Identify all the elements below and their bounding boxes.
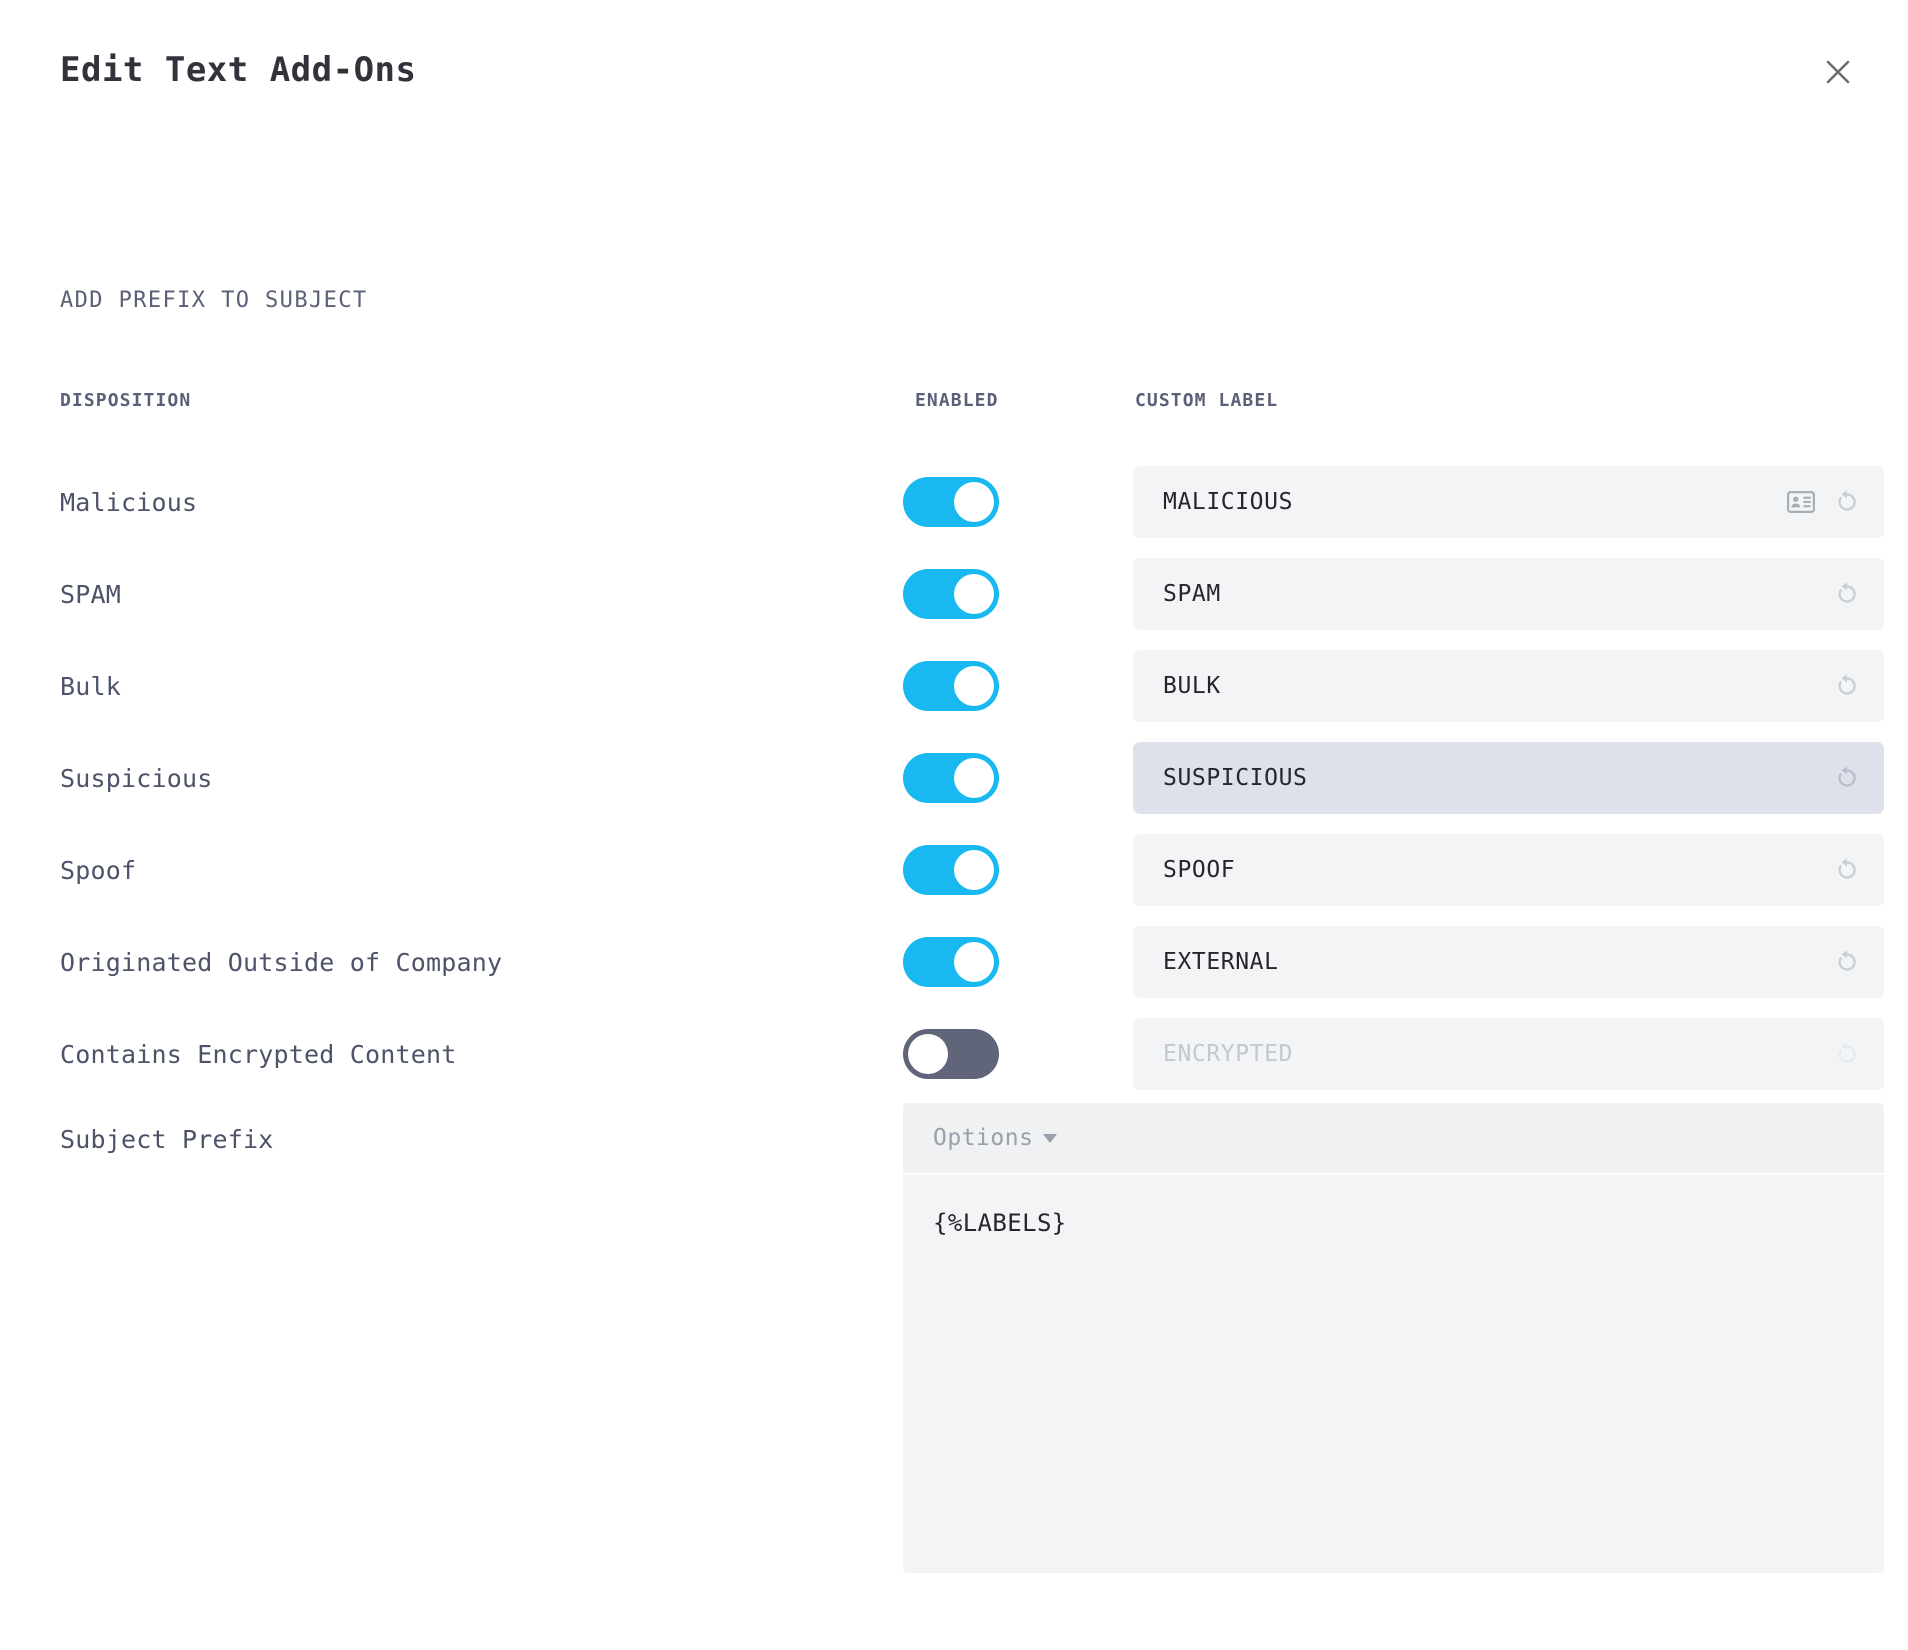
custom-label-input[interactable]: BULK [1133, 650, 1884, 722]
reset-icon[interactable] [1830, 761, 1864, 795]
enabled-toggle-cell [903, 477, 1023, 527]
enabled-toggle[interactable] [903, 937, 999, 987]
custom-label-value: ENCRYPTED [1163, 1041, 1830, 1067]
toggle-knob [954, 850, 994, 890]
table-row: SPAM SPAM [60, 548, 1884, 640]
disposition-label: Spoof [60, 856, 880, 885]
custom-label-value: SUSPICIOUS [1163, 765, 1830, 791]
reset-icon[interactable] [1830, 485, 1864, 519]
input-icon-group [1830, 853, 1864, 887]
enabled-toggle[interactable] [903, 753, 999, 803]
custom-label-input[interactable]: SPOOF [1133, 834, 1884, 906]
table-row: Originated Outside of Company EXTERNAL [60, 916, 1884, 1008]
input-icon-group [1830, 669, 1864, 703]
subject-prefix-label: Subject Prefix [60, 1125, 274, 1154]
column-header-custom-label: CUSTOM LABEL [1135, 390, 1278, 411]
disposition-label: Contains Encrypted Content [60, 1040, 880, 1069]
custom-label-cell: SUSPICIOUS [1133, 742, 1884, 814]
table-header-row: DISPOSITION ENABLED CUSTOM LABEL [60, 390, 1884, 430]
table-row: Bulk BULK [60, 640, 1884, 732]
disposition-label: Suspicious [60, 764, 880, 793]
custom-label-value: MALICIOUS [1163, 489, 1784, 515]
reset-icon [1830, 1037, 1864, 1071]
chevron-down-icon [1043, 1134, 1057, 1143]
custom-label-cell: SPOOF [1133, 834, 1884, 906]
enabled-toggle[interactable] [903, 845, 999, 895]
input-icon-group [1784, 485, 1864, 519]
toggle-knob [954, 482, 994, 522]
enabled-toggle-cell [903, 1029, 1023, 1079]
resize-grip-icon[interactable] [1856, 1545, 1878, 1567]
table-row: Malicious MALICIOUS [60, 456, 1884, 548]
custom-label-input[interactable]: EXTERNAL [1133, 926, 1884, 998]
toggle-knob [954, 942, 994, 982]
contact-card-icon[interactable] [1784, 485, 1818, 519]
dialog-header: Edit Text Add-Ons [60, 48, 1860, 108]
enabled-toggle[interactable] [903, 569, 999, 619]
disposition-table: DISPOSITION ENABLED CUSTOM LABEL Malicio… [60, 390, 1884, 1100]
enabled-toggle-cell [903, 845, 1023, 895]
disposition-label: Originated Outside of Company [60, 948, 880, 977]
custom-label-input[interactable]: MALICIOUS [1133, 466, 1884, 538]
column-header-disposition: DISPOSITION [60, 390, 191, 411]
reset-icon[interactable] [1830, 669, 1864, 703]
enabled-toggle-cell [903, 661, 1023, 711]
custom-label-input: ENCRYPTED [1133, 1018, 1884, 1090]
table-row: Contains Encrypted Content ENCRYPTED [60, 1008, 1884, 1100]
editor-toolbar: Options [903, 1103, 1884, 1173]
options-dropdown-label: Options [933, 1125, 1033, 1151]
input-icon-group [1830, 577, 1864, 611]
enabled-toggle-cell [903, 569, 1023, 619]
custom-label-cell: MALICIOUS [1133, 466, 1884, 538]
custom-label-cell: ENCRYPTED [1133, 1018, 1884, 1090]
enabled-toggle[interactable] [903, 1029, 999, 1079]
input-icon-group [1830, 761, 1864, 795]
column-header-enabled: ENABLED [915, 390, 999, 411]
disposition-label: Bulk [60, 672, 880, 701]
disposition-label: SPAM [60, 580, 880, 609]
options-dropdown-button[interactable]: Options [933, 1125, 1057, 1151]
toggle-knob [954, 758, 994, 798]
custom-label-cell: SPAM [1133, 558, 1884, 630]
table-body: Malicious MALICIOUS SPAM [60, 456, 1884, 1100]
enabled-toggle-cell [903, 937, 1023, 987]
enabled-toggle[interactable] [903, 477, 999, 527]
custom-label-value: EXTERNAL [1163, 949, 1830, 975]
enabled-toggle[interactable] [903, 661, 999, 711]
reset-icon[interactable] [1830, 945, 1864, 979]
reset-icon[interactable] [1830, 853, 1864, 887]
toggle-knob [908, 1034, 948, 1074]
custom-label-input[interactable]: SPAM [1133, 558, 1884, 630]
page-title: Edit Text Add-Ons [60, 48, 1860, 92]
close-icon [1825, 59, 1851, 85]
custom-label-cell: EXTERNAL [1133, 926, 1884, 998]
table-row: Suspicious SUSPICIOUS [60, 732, 1884, 824]
close-button[interactable] [1816, 50, 1860, 94]
custom-label-input[interactable]: SUSPICIOUS [1133, 742, 1884, 814]
input-icon-group [1830, 945, 1864, 979]
reset-icon[interactable] [1830, 577, 1864, 611]
subject-prefix-editor: Options {%LABELS} [903, 1103, 1884, 1573]
subject-prefix-value: {%LABELS} [933, 1209, 1854, 1237]
custom-label-value: SPOOF [1163, 857, 1830, 883]
custom-label-cell: BULK [1133, 650, 1884, 722]
toggle-knob [954, 574, 994, 614]
edit-text-addons-dialog: Edit Text Add-Ons ADD PREFIX TO SUBJECT … [0, 0, 1908, 1650]
toggle-knob [954, 666, 994, 706]
custom-label-value: SPAM [1163, 581, 1830, 607]
disposition-label: Malicious [60, 488, 880, 517]
custom-label-value: BULK [1163, 673, 1830, 699]
subject-prefix-textarea[interactable]: {%LABELS} [903, 1175, 1884, 1573]
input-icon-group [1830, 1037, 1864, 1071]
table-row: Spoof SPOOF [60, 824, 1884, 916]
section-heading: ADD PREFIX TO SUBJECT [60, 288, 368, 313]
enabled-toggle-cell [903, 753, 1023, 803]
